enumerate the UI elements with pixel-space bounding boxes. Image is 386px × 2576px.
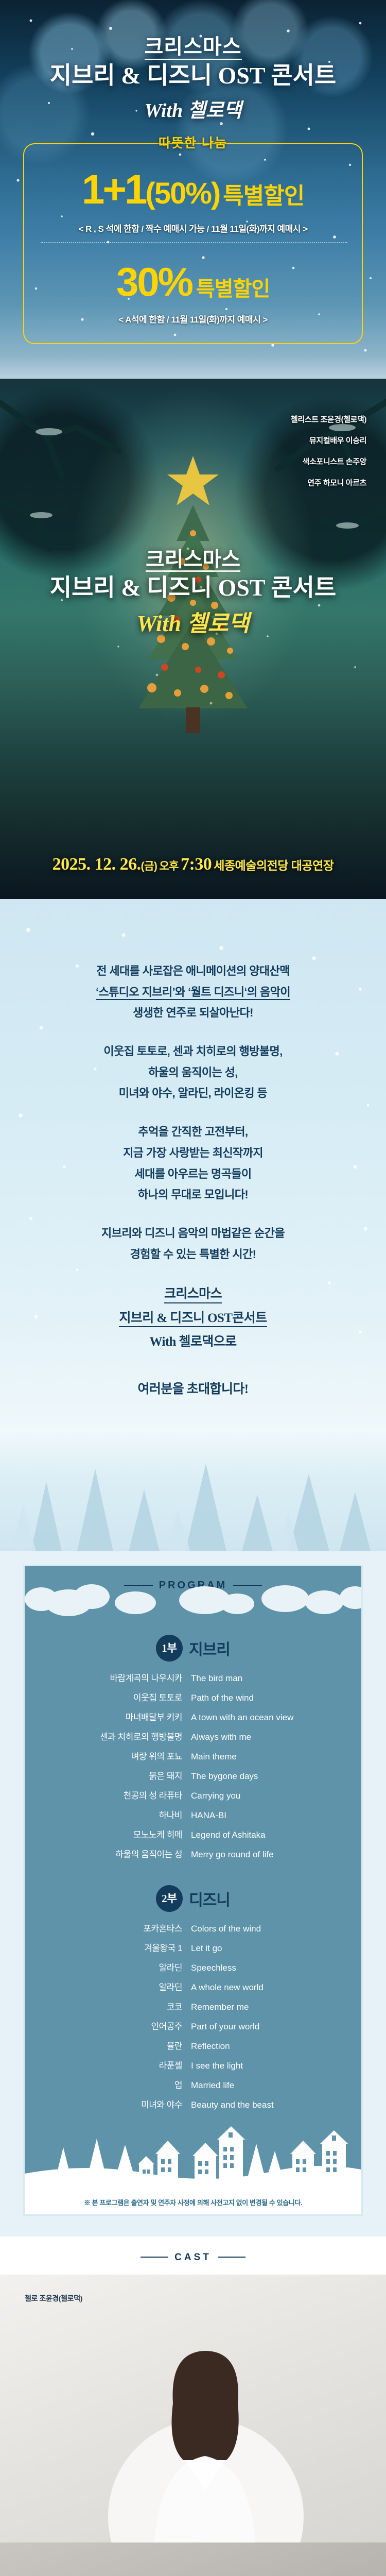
- promo2-pct: %: [158, 259, 192, 304]
- song-en: A town with an ocean view: [191, 1713, 320, 1723]
- song-kr: 뮬란: [66, 2039, 191, 2052]
- song-en: Remember me: [191, 2002, 320, 2012]
- clouds-decoration: [25, 1599, 361, 1623]
- promo-thirty-percent: 30%특별할인: [24, 262, 362, 302]
- promo-divider: [41, 242, 347, 243]
- song-kr: 하울의 움직이는 성: [66, 1847, 191, 1860]
- song-row: 붉은 돼지The bygone days: [25, 1769, 361, 1782]
- song-en: Always with me: [191, 1732, 320, 1742]
- promo2-note: < A석에 한함 / 11월 11일(화)까지 예매시 >: [24, 312, 362, 325]
- song-kr: 알라딘: [66, 1960, 191, 1973]
- intro-paragraph-2: 이웃집 토토로, 센과 치히로의 행방불명, 하울의 움직이는 성, 미녀와 야…: [0, 1041, 386, 1104]
- intro-p2-l3: 미녀와 야수, 알라딘, 라이온킹 등: [119, 1087, 267, 1099]
- cast-heading: CAST: [174, 2252, 212, 2263]
- musical-actor-portrait: [0, 2543, 386, 2576]
- promotional-page: 크리스마스 지브리 & 디즈니 OST 콘서트 With 첼로댁 따뜻한 나눔 …: [0, 0, 386, 2576]
- part-1-badge: 1부: [156, 1635, 183, 1662]
- village-svg: [25, 2124, 361, 2190]
- poster-title-line2: 지브리 & 디즈니 OST 콘서트: [0, 575, 386, 601]
- intro-p2-l2: 하울의 움직이는 성,: [148, 1066, 238, 1079]
- cellist-portrait: [0, 2275, 386, 2543]
- hero-title-line2: 지브리 & 디즈니 OST 콘서트: [0, 63, 386, 89]
- village-illustration: [25, 2124, 361, 2190]
- intro-p1-l3: 생생한 연주로 되살아난다!: [133, 1006, 253, 1019]
- song-en: A whole new world: [191, 1982, 320, 1993]
- hero-title-block: 크리스마스 지브리 & 디즈니 OST 콘서트 With 첼로댁: [0, 36, 386, 123]
- intro-p4-l2: 경험할 수 있는 특별한 시간!: [130, 1248, 256, 1261]
- credit-musical-actor: 뮤지컬배우 이승리: [291, 437, 366, 445]
- intro-paragraph-3: 추억을 간직한 고전부터, 지금 가장 사랑받는 최신작까지 세대를 아우르는 …: [0, 1122, 386, 1206]
- intro-p3-l2: 지금 가장 사랑받는 최신작까지: [123, 1146, 263, 1159]
- warm-share-banner: 따뜻한 나눔: [0, 133, 386, 151]
- heading-bar-right: [233, 1585, 262, 1586]
- song-kr: 미녀와 야수: [66, 2097, 191, 2110]
- part-header-2: 2부디즈니: [25, 1885, 361, 1912]
- intro-p3-l3: 세대를 아우르는 명곡들이: [134, 1167, 251, 1180]
- song-kr: 마녀배달부 키키: [66, 1710, 191, 1723]
- promo1-mid: (50%): [146, 177, 220, 210]
- song-kr: 붉은 돼지: [66, 1769, 191, 1782]
- cast-heading-wrap: CAST: [0, 2236, 386, 2275]
- song-row: 라푼젤I see the light: [25, 2058, 361, 2071]
- song-kr: 포카혼타스: [66, 1921, 191, 1934]
- poster-title-line3: With 첼로댁: [0, 605, 386, 638]
- song-en: HANA-BI: [191, 1810, 320, 1821]
- warm-share-label: 따뜻한 나눔: [151, 136, 235, 150]
- song-row: 뮬란Reflection: [25, 2039, 361, 2052]
- song-kr: 센과 치히로의 행방불명: [66, 1730, 191, 1742]
- intro-closing-l4: 여러분을 초대합니다!: [138, 1382, 249, 1396]
- song-kr: 라푼젤: [66, 2058, 191, 2071]
- song-kr: 코코: [66, 1999, 191, 2012]
- program-disclaimer: ※ 본 프로그램은 출연자 및 연주자 사정에 의해 사전고지 없이 변경될 수…: [25, 2190, 361, 2214]
- part-2-label: 디즈니: [189, 1887, 230, 1910]
- intro-closing: 크리스마스 지브리 & 디즈니 OST콘서트 With 첼로댁으로 여러분을 초…: [0, 1282, 386, 1401]
- song-kr: 하나비: [66, 1808, 191, 1821]
- song-en: Carrying you: [191, 1791, 320, 1801]
- forest-divider: [0, 1433, 386, 1551]
- song-row: 마녀배달부 키키A town with an ocean view: [25, 1710, 361, 1723]
- poster-day-value: (금): [141, 860, 157, 872]
- song-en: Beauty and the beast: [191, 2100, 320, 2110]
- intro-paragraph-1: 전 세대를 사로잡은 애니메이션의 양대산맥 ‘스튜디오 지브리’와 ‘월트 디…: [0, 961, 386, 1024]
- song-kr: 천공의 성 라퓨타: [66, 1788, 191, 1801]
- poster-title-block: 크리스마스 지브리 & 디즈니 OST 콘서트 With 첼로댁: [0, 549, 386, 638]
- song-en: I see the light: [191, 2061, 320, 2071]
- song-en: Main theme: [191, 1752, 320, 1762]
- song-en: The bird man: [191, 1673, 320, 1684]
- song-kr: 이웃집 토토로: [66, 1690, 191, 1703]
- program-card: PROGRAM 1부지브리 바람계곡의 나우시카The bird man 이웃집…: [23, 1565, 363, 2216]
- song-kr: 업: [66, 2078, 191, 2091]
- song-kr: 모노노케 히메: [66, 1827, 191, 1840]
- song-row: 천공의 성 라퓨타Carrying you: [25, 1788, 361, 1801]
- song-en: Merry go round of life: [191, 1850, 320, 1860]
- promo2-big: 30: [116, 259, 158, 304]
- song-en: Reflection: [191, 2041, 320, 2052]
- intro-closing-l2: 지브리 & 디즈니 OST콘서트: [119, 1310, 267, 1327]
- song-row: 벼랑 위의 포뇨Main theme: [25, 1749, 361, 1762]
- song-list-part-1: 바람계곡의 나우시카The bird man 이웃집 토토로Path of th…: [25, 1671, 361, 1874]
- song-kr: 바람계곡의 나우시카: [66, 1671, 191, 1684]
- promo1-kor: 특별할인: [223, 183, 304, 209]
- poster-section: 첼리스트 조윤경(첼로댁) 뮤지컬배우 이승리 색소포니스트 손주앙 연주 하모…: [0, 379, 386, 899]
- song-row: 이웃집 토토로Path of the wind: [25, 1690, 361, 1703]
- intro-p3-l4: 하나의 무대로 모입니다!: [138, 1188, 248, 1201]
- song-row: 하울의 움직이는 성Merry go round of life: [25, 1847, 361, 1860]
- song-row: 알라딘A whole new world: [25, 1980, 361, 1993]
- song-en: Legend of Ashitaka: [191, 1830, 320, 1840]
- song-en: Part of your world: [191, 2022, 320, 2032]
- song-row: 코코Remember me: [25, 1999, 361, 2012]
- intro-closing-l1: 크리스마스: [164, 1286, 222, 1303]
- song-row: 인어공주Part of your world: [25, 2019, 361, 2032]
- song-row: 모노노케 히메Legend of Ashitaka: [25, 1827, 361, 1840]
- credit-cellist: 첼리스트 조윤경(첼로댁): [291, 416, 366, 423]
- intro-closing-l3: With 첼로댁으로: [150, 1335, 237, 1349]
- part-1-label: 지브리: [189, 1637, 230, 1659]
- poster-time: 7:30: [181, 855, 212, 874]
- song-row: 포카혼타스Colors of the wind: [25, 1921, 361, 1934]
- promo1-note: < R , S 석에 한함 / 짝수 예매시 가능 / 11월 11일(화)까지…: [24, 222, 362, 234]
- song-en: Married life: [191, 2080, 320, 2091]
- program-section: PROGRAM 1부지브리 바람계곡의 나우시카The bird man 이웃집…: [0, 1551, 386, 2236]
- song-row: 센과 치히로의 행방불명Always with me: [25, 1730, 361, 1742]
- song-row: 업Married life: [25, 2078, 361, 2091]
- hero-title-line1: 크리스마스: [145, 36, 242, 60]
- forest-trees-illustration: [0, 1433, 386, 1551]
- song-en: Let it go: [191, 1943, 320, 1954]
- song-list-part-2: 포카혼타스Colors of the wind 겨울왕국 1Let it go …: [25, 1921, 361, 2124]
- song-kr: 알라딘: [66, 1980, 191, 1993]
- credit-saxophonist: 색소포니스트 손주앙: [291, 458, 366, 466]
- intro-p3-l1: 추억을 간직한 고전부터,: [138, 1125, 248, 1138]
- song-kr: 겨울왕국 1: [66, 1941, 191, 1954]
- song-row: 하나비HANA-BI: [25, 1808, 361, 1821]
- song-row: 바람계곡의 나우시카The bird man: [25, 1671, 361, 1684]
- cast-bar-right: [218, 2257, 245, 2258]
- poster-ampm: 오후: [159, 860, 179, 872]
- song-en: The bygone days: [191, 1771, 320, 1782]
- cast-section: CAST 첼로 조윤경(첼로댁) 뮤지컬배우 이승리: [0, 2236, 386, 2576]
- promo-one-plus-one: 1+1(50%)특별할인: [24, 169, 362, 210]
- song-row: 알라딘Speechless: [25, 1960, 361, 1973]
- intro-p4-l1: 지브리와 디즈니 음악의 마법같은 순간을: [101, 1227, 285, 1240]
- cast-member-cellist: 첼로 조윤경(첼로댁): [0, 2275, 386, 2543]
- promo1-big: 1+1: [82, 166, 146, 212]
- cast-member-musical-actor: 뮤지컬배우 이승리: [0, 2543, 386, 2576]
- poster-venue: 세종예술의전당 대공연장: [214, 859, 334, 872]
- heading-bar-left: [124, 1585, 153, 1586]
- intro-section: 전 세대를 사로잡은 애니메이션의 양대산맥 ‘스튜디오 지브리’와 ‘월트 디…: [0, 899, 386, 1433]
- song-kr: 인어공주: [66, 2019, 191, 2032]
- intro-p2-l1: 이웃집 토토로, 센과 치히로의 행방불명,: [103, 1045, 282, 1058]
- poster-credits-list: 첼리스트 조윤경(첼로댁) 뮤지컬배우 이승리 색소포니스트 손주앙 연주 하모…: [291, 416, 366, 500]
- credit-ensemble: 연주 하모니 아르츠: [291, 479, 366, 487]
- poster-date-value: 2025. 12. 26.: [52, 855, 141, 874]
- part-header-1: 1부지브리: [25, 1635, 361, 1662]
- promotion-box: 1+1(50%)특별할인 < R , S 석에 한함 / 짝수 예매시 가능 /…: [23, 143, 363, 344]
- poster-date-line: 2025. 12. 26.(금) 오후 7:30 세종예술의전당 대공연장: [0, 855, 386, 874]
- intro-p1-l2: ‘스튜디오 지브리’와 ‘월트 디즈니‘의 음악이: [96, 985, 290, 1001]
- song-en: Path of the wind: [191, 1693, 320, 1703]
- hero-title-line3: With 첼로댁: [0, 94, 386, 123]
- song-en: Speechless: [191, 1963, 320, 1973]
- promo2-kor: 특별할인: [196, 278, 270, 300]
- song-row: 겨울왕국 1Let it go: [25, 1941, 361, 1954]
- intro-paragraph-4: 지브리와 디즈니 음악의 마법같은 순간을 경험할 수 있는 특별한 시간!: [0, 1223, 386, 1265]
- cast-bar-left: [141, 2257, 168, 2258]
- cast-caption-cellist: 첼로 조윤경(첼로댁): [25, 2293, 82, 2303]
- song-en: Colors of the wind: [191, 1924, 320, 1934]
- hero-section: 크리스마스 지브리 & 디즈니 OST 콘서트 With 첼로댁 따뜻한 나눔 …: [0, 0, 386, 379]
- part-2-badge: 2부: [156, 1885, 183, 1912]
- poster-title-line1: 크리스마스: [146, 549, 240, 572]
- song-kr: 벼랑 위의 포뇨: [66, 1749, 191, 1762]
- intro-p1-l1: 전 세대를 사로잡은 애니메이션의 양대산맥: [96, 964, 290, 977]
- song-row: 미녀와 야수Beauty and the beast: [25, 2097, 361, 2110]
